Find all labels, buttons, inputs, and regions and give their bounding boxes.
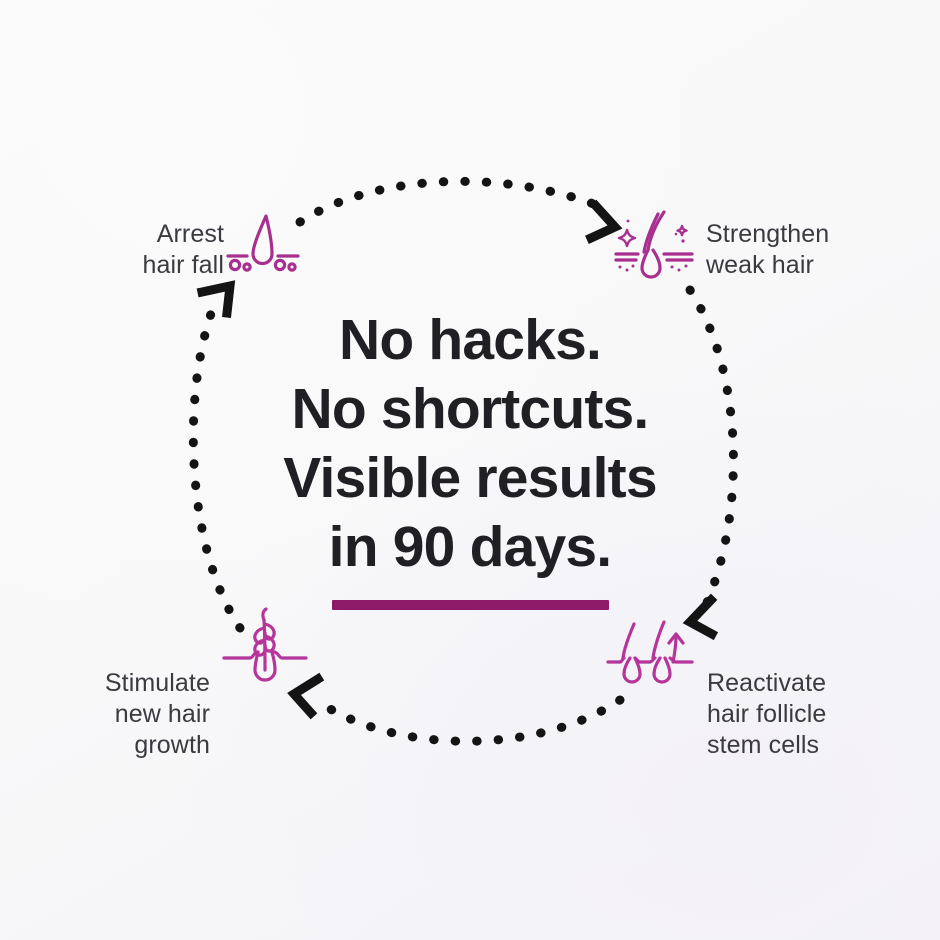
headline-line-3: Visible results xyxy=(160,444,780,513)
hair-follicle-sparkle-icon xyxy=(612,208,698,291)
headline-line-4: in 90 days. xyxy=(160,513,780,582)
label-stimulate-line-2: new hair xyxy=(105,699,210,730)
label-stimulate-line-1: Stimulate xyxy=(105,668,210,699)
label-stimulate-new-growth: Stimulate new hair growth xyxy=(105,668,210,761)
hair-follicle-arrow-icon xyxy=(606,618,694,697)
label-reactivate-stem-cells: Reactivate hair follicle stem cells xyxy=(707,668,826,761)
label-reactivate-line-2: hair follicle xyxy=(707,699,826,730)
label-strengthen-line-2: weak hair xyxy=(706,250,829,281)
cycle-arc-top xyxy=(300,181,604,222)
label-strengthen-line-1: Strengthen xyxy=(706,219,829,250)
label-arrest-hair-fall: Arrest hair fall xyxy=(143,219,225,281)
headline-underline xyxy=(332,600,609,610)
label-reactivate-line-3: stem cells xyxy=(707,730,826,761)
label-arrest-line-1: Arrest xyxy=(143,219,225,250)
label-stimulate-line-3: growth xyxy=(105,730,210,761)
headline-line-2: No shortcuts. xyxy=(160,375,780,444)
headline-block: No hacks. No shortcuts. Visible results … xyxy=(160,306,780,610)
label-reactivate-line-1: Reactivate xyxy=(707,668,826,699)
hair-follicle-root-icon xyxy=(222,212,304,287)
hair-sprout-icon xyxy=(222,604,308,693)
infographic-canvas: No hacks. No shortcuts. Visible results … xyxy=(0,0,940,940)
label-arrest-line-2: hair fall xyxy=(143,250,225,281)
headline-line-1: No hacks. xyxy=(160,306,780,375)
label-strengthen-weak-hair: Strengthen weak hair xyxy=(706,219,829,281)
cycle-arc-bottom xyxy=(316,700,620,741)
